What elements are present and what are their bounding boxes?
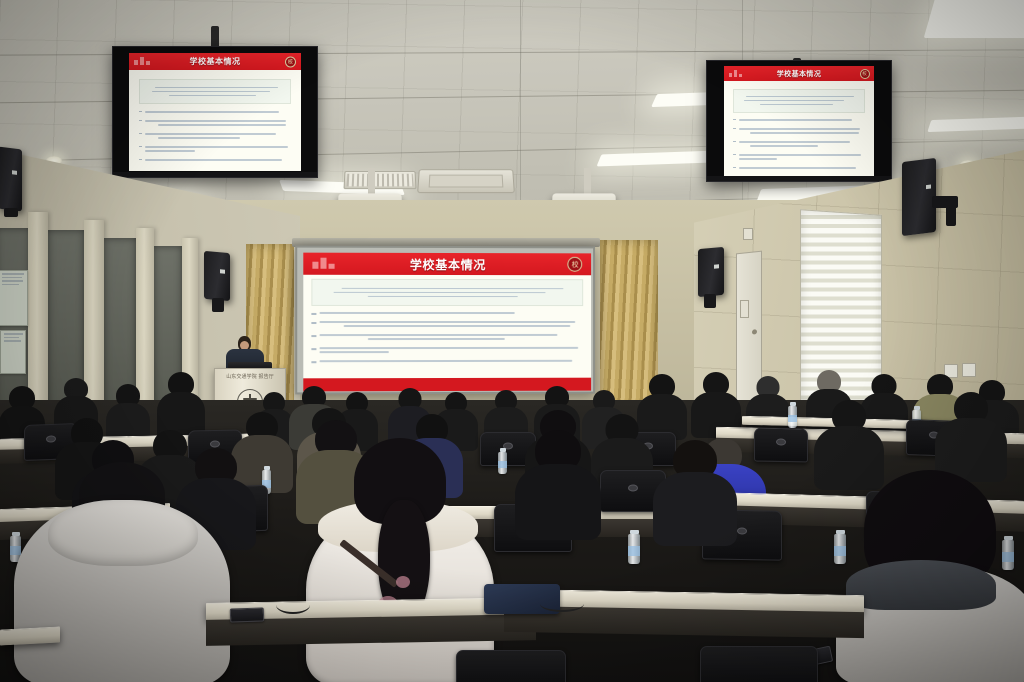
speaker-mount	[704, 294, 716, 308]
attendee-back-row	[160, 372, 202, 436]
school-emblem-icon: 校	[285, 56, 296, 67]
slide-bullet-list	[311, 309, 583, 364]
slide-right: 学校基本情况 校	[724, 66, 874, 176]
slide-bullet	[139, 118, 290, 129]
attendee-mid-row	[940, 392, 1002, 474]
water-bottle	[788, 406, 797, 428]
slide-bullet	[139, 109, 290, 116]
slide-bullet	[311, 344, 583, 355]
slide-body	[129, 70, 301, 171]
podium-nameplate: 山东交通学院 报告厅	[215, 373, 285, 380]
slide-bullet	[733, 165, 865, 172]
slide-intro-panel	[733, 89, 865, 113]
water-bottle	[1002, 540, 1014, 570]
slide-title: 学校基本情况	[777, 69, 822, 79]
ceiling-monitor-left[interactable]: 学校基本情况 校	[112, 46, 318, 178]
water-bottle	[628, 534, 640, 564]
projector-mount-pole	[584, 168, 591, 194]
water-bottle	[834, 534, 846, 564]
chair-back	[754, 428, 808, 463]
ceiling-light-panel	[924, 0, 1024, 38]
speaker-mount	[946, 200, 956, 226]
slide-title: 学校基本情况	[410, 255, 486, 272]
slide-decor-blocks	[729, 70, 742, 77]
desk-cable	[540, 596, 584, 612]
wall-speaker-left	[204, 251, 230, 301]
desk-cable	[276, 596, 310, 614]
jacket-embroidery	[396, 576, 410, 588]
ac-vent	[343, 171, 416, 189]
slide-bullet	[139, 131, 290, 142]
desk-row-front	[0, 626, 60, 645]
slide-bullet-list	[139, 109, 290, 164]
slide-body	[724, 81, 874, 176]
projector-mount-pole	[368, 168, 375, 194]
slide-bullet	[733, 152, 865, 163]
slide-body	[303, 275, 591, 379]
slide-header: 学校基本情况 校	[724, 66, 874, 81]
chair-back-front	[456, 650, 566, 682]
slide-intro-panel	[139, 79, 290, 105]
jacket-collar	[846, 560, 996, 610]
speaker-mount	[4, 208, 18, 217]
slide-main: 学校基本情况 校	[303, 253, 591, 392]
slide-header: 学校基本情况 校	[303, 253, 591, 276]
slide-bullet	[733, 117, 865, 124]
power-outlet	[962, 363, 976, 377]
wall-control-box	[740, 300, 749, 318]
attendee-third-row	[658, 440, 732, 536]
speaker-mount	[212, 298, 224, 312]
slide-bullet	[311, 331, 583, 342]
monitor-ceiling-mount	[211, 26, 219, 48]
slide-bullet	[139, 144, 290, 155]
slide-intro-panel	[311, 279, 583, 306]
wall-speaker-right-far	[902, 158, 936, 236]
wall-speaker-left-far	[0, 147, 22, 212]
jacket-hood	[48, 500, 198, 566]
wall-notice-board	[0, 330, 26, 374]
slide-title: 学校基本情况	[190, 56, 241, 67]
slide-bullet	[139, 157, 290, 164]
lecture-hall-scene: 学校基本情况 校	[0, 0, 1024, 682]
wall-speaker-right	[698, 247, 724, 297]
slide-bullet	[311, 357, 583, 364]
slide-decor-blocks	[312, 258, 334, 269]
school-emblem-icon: 校	[568, 257, 583, 272]
slide-left: 学校基本情况 校	[129, 53, 301, 171]
slide-decor-blocks	[134, 57, 150, 65]
slide-bullet	[311, 309, 583, 316]
water-bottle	[498, 452, 507, 474]
slide-header: 学校基本情况 校	[129, 53, 301, 70]
slide-bullet	[733, 126, 865, 137]
slide-bullet-list	[733, 117, 865, 172]
wall-notice-board	[0, 270, 28, 326]
school-emblem-icon: 校	[860, 69, 870, 79]
smartphone-on-desk[interactable]	[230, 607, 264, 622]
ceiling-monitor-right[interactable]: 学校基本情况 校	[706, 60, 892, 182]
slide-bullet	[311, 318, 583, 329]
wall-sensor-box	[743, 228, 753, 240]
chair-back-front	[700, 646, 818, 682]
attendee-third-row	[520, 430, 596, 528]
ac-ceiling-cassette	[417, 169, 515, 193]
projection-screen: 学校基本情况 校	[295, 246, 595, 395]
attendee-back-row	[694, 372, 738, 434]
slide-bullet	[733, 139, 865, 150]
